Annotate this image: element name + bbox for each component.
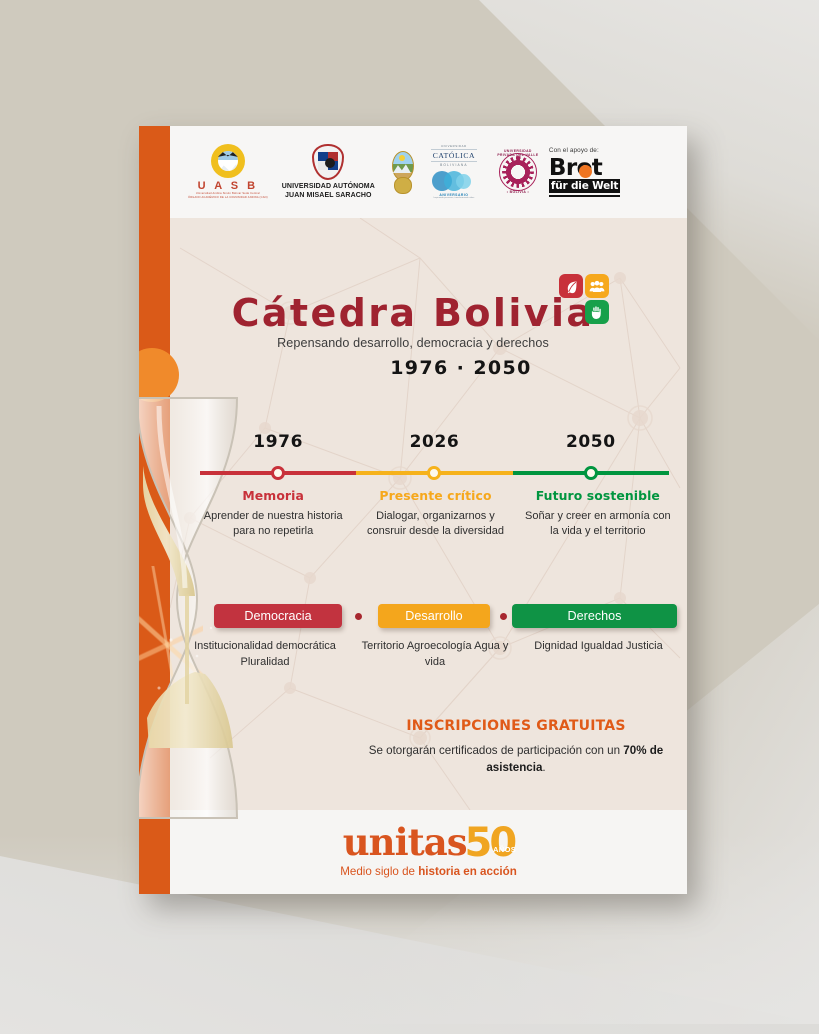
hand-icon [585, 300, 609, 324]
ucb-bottom-line: BOLIVIANA [440, 163, 468, 167]
timeline-year-2: 2026 [356, 432, 512, 452]
status-badge-derechos: Derechos [512, 604, 677, 628]
support-label: Con el apoyo de: [549, 147, 599, 154]
timeline-year-3: 2050 [513, 432, 669, 452]
timeline-heading-3: Futuro sostenible [521, 488, 675, 503]
pillar-descriptions: Institucionalidad democrática Pluralidad… [170, 639, 687, 670]
ucb-divider-bottom [431, 161, 477, 162]
logo-uajms: UNIVERSIDAD AUTÓNOMA JUAN MISAEL SARACHO [282, 144, 375, 200]
timeline-node-2050 [584, 466, 598, 480]
timeline-col-futuro: Futuro sostenible Soñar y creer en armon… [517, 488, 679, 538]
timeline-segment-1976 [200, 466, 356, 480]
status-badge-democracia: Democracia [214, 604, 342, 628]
logo-ucb: UNIVERSIDAD CATÓLICA BOLIVIANA ANIVERSAR… [431, 144, 477, 200]
inscriptions-body-prefix: Se otorgarán certificados de participaci… [369, 744, 624, 757]
tarija-crest-icon [391, 149, 413, 195]
timeline-desc-1: Aprender de nuestra historia para no rep… [196, 509, 350, 538]
uajms-shield-icon [312, 144, 344, 180]
unitas-logo: unitas 50 AÑOS [343, 826, 514, 859]
timeline-years: 1976 2026 2050 [200, 432, 669, 452]
timeline-descriptions: Memoria Aprender de nuestra historia par… [192, 488, 679, 538]
anniversary-number: 50 [465, 827, 515, 860]
updv-top-text: UNIVERSIDAD PRIVADA DEL VALLE [495, 149, 541, 157]
separator-dot-1-icon [355, 613, 362, 620]
sponsor-logo-bar: U A S B Universidad Andina Simón Bolívar… [170, 126, 687, 218]
logo-updv: UNIVERSIDAD PRIVADA DEL VALLE • BOLIVIA … [495, 149, 541, 195]
brot-word-bottom: für die Welt [549, 179, 620, 193]
inscriptions-body: Se otorgarán certificados de participaci… [361, 742, 671, 777]
timeline-node-2026 [427, 466, 441, 480]
logo-tarija [391, 149, 413, 195]
timeline-heading-2: Presente crítico [358, 488, 512, 503]
ucb-mid-line: CATÓLICA [433, 151, 475, 160]
pillar-badges: Democracia Desarrollo Derechos [170, 604, 687, 630]
timeline-desc-2: Dialogar, organizarnos y consruir desde … [358, 509, 512, 538]
page-subtitle: Repensando desarrollo, democracia y dere… [139, 336, 687, 350]
uasb-emblem-icon [211, 144, 245, 178]
ucb-top-line: UNIVERSIDAD [441, 144, 467, 148]
inscriptions-body-suffix: . [542, 761, 545, 774]
anniversary-mark: 50 AÑOS [465, 827, 515, 860]
timeline: 1976 2026 2050 Memoria Aprender de nuest… [170, 426, 687, 566]
uasb-finetext: ÓRGANO ACADÉMICO DE LA COMUNIDAD ANDINA … [188, 196, 268, 200]
footer-tagline: Medio siglo de historia en acción [340, 865, 517, 878]
timeline-col-memoria: Memoria Aprender de nuestra historia par… [192, 488, 354, 538]
timeline-node-1976 [271, 466, 285, 480]
logo-brot-fuer-die-welt: Con el apoyo de: Brot für die Welt [549, 147, 620, 197]
brot-orange-dot-icon [579, 165, 592, 178]
separator-dot-2-icon [500, 613, 507, 620]
footer-tagline-bold: historia en acción [418, 865, 517, 878]
updv-bottom-text: • BOLIVIA • [495, 190, 541, 194]
updv-gear-icon: UNIVERSIDAD PRIVADA DEL VALLE • BOLIVIA … [495, 149, 541, 195]
icon-cluster [559, 274, 611, 326]
pillar-desc-democracia: Institucionalidad democrática Pluralidad [170, 639, 360, 670]
unitas-wordmark: unitas [343, 826, 467, 859]
anniversary-word: AÑOS [493, 845, 516, 854]
uasb-acronym: U A S B [198, 180, 259, 192]
timeline-segment-2050 [513, 466, 669, 480]
uajms-line1: UNIVERSIDAD AUTÓNOMA [282, 183, 375, 192]
timeline-segment-2026 [356, 466, 512, 480]
ucb-60-badge-icon [432, 170, 476, 192]
timeline-desc-3: Soñar y creer en armonía con la vida y e… [521, 509, 675, 538]
inscriptions-heading: INSCRIPCIONES GRATUITAS [361, 718, 671, 734]
people-icon [585, 274, 609, 298]
pillars-section: Democracia Desarrollo Derechos Instituci… [170, 604, 687, 670]
logo-uasb: U A S B Universidad Andina Simón Bolívar… [188, 144, 268, 200]
poster-sheet: U A S B Universidad Andina Simón Bolívar… [139, 126, 687, 894]
timeline-col-presente: Presente crítico Dialogar, organizarnos … [354, 488, 516, 538]
pillar-desc-desarrollo: Territorio Agroecología Agua y vida [360, 639, 510, 670]
brot-mark: Brot für die Welt [549, 158, 620, 197]
left-accent-bar [139, 126, 170, 894]
ucb-divider-top [431, 149, 477, 150]
uajms-line2: JUAN MISAEL SARACHO [285, 192, 372, 201]
year-range: 1976 · 2050 [235, 357, 687, 379]
timeline-year-1: 1976 [200, 432, 356, 452]
timeline-track [200, 466, 669, 480]
ucb-fine-text: Inspirando personas, transformando vidas [433, 197, 474, 200]
leaf-icon [559, 274, 583, 298]
brot-underline [549, 195, 620, 197]
footer-tagline-prefix: Medio siglo de [340, 865, 418, 878]
timeline-heading-1: Memoria [196, 488, 350, 503]
inscriptions-section: INSCRIPCIONES GRATUITAS Se otorgarán cer… [361, 718, 671, 777]
footer-brand-bar: unitas 50 AÑOS Medio siglo de historia e… [170, 810, 687, 894]
pillar-desc-derechos: Dignidad Igualdad Justicia [510, 639, 687, 670]
status-badge-desarrollo: Desarrollo [378, 604, 490, 628]
